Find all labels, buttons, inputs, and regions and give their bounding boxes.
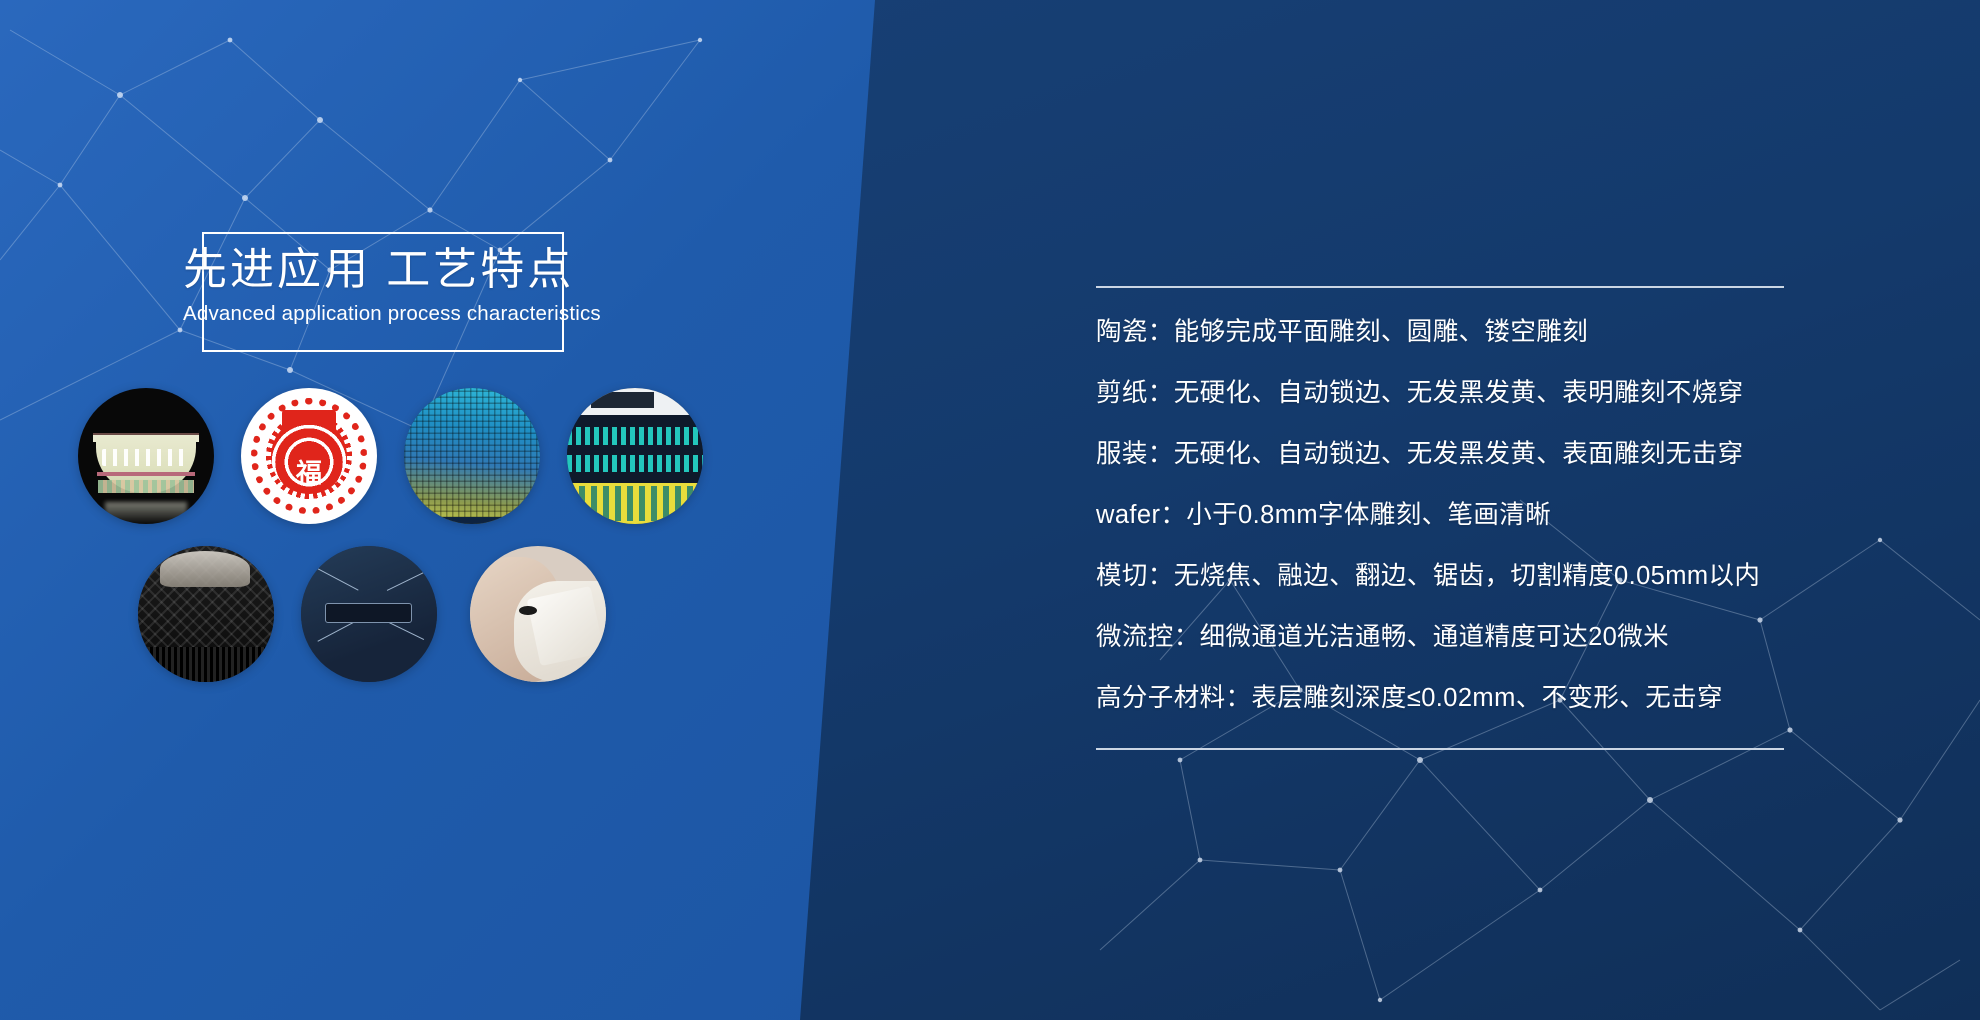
wafer-band-teal-2 xyxy=(567,455,703,473)
feature-line-microfluidic: 微流控：细微通道光洁通畅、通道精度可达20微米 xyxy=(1096,607,1966,668)
feature-list-top-divider xyxy=(1096,286,1784,288)
feature-line-ceramic: 陶瓷：能够完成平面雕刻、圆雕、镂空雕刻 xyxy=(1096,302,1966,363)
feature-list: 陶瓷：能够完成平面雕刻、圆雕、镂空雕刻 剪纸：无硬化、自动锁边、无发黑发黄、表明… xyxy=(1096,302,1966,729)
wafer-pattern-photo[interactable] xyxy=(567,388,703,524)
wafer-band-teal-1 xyxy=(567,427,703,445)
feature-line-wafer: wafer：小于0.8mm字体雕刻、笔画清晰 xyxy=(1096,485,1966,546)
page-title: 先进应用 工艺特点 xyxy=(183,243,603,297)
polymer-film-photo[interactable] xyxy=(470,546,606,682)
page-subtitle: Advanced application process characteris… xyxy=(183,299,603,329)
title-block: 先进应用 工艺特点 Advanced application process c… xyxy=(183,243,603,329)
wafer-band-gap-3 xyxy=(567,472,703,483)
wafer-band-gap-1 xyxy=(567,415,703,427)
feature-list-bottom-divider xyxy=(1096,748,1784,750)
fabric-fringe xyxy=(138,647,274,682)
textile-fabric-photo[interactable] xyxy=(138,546,274,682)
ceramic-bowl-photo[interactable] xyxy=(78,388,214,524)
microfluidic-chip-photo[interactable] xyxy=(301,546,437,682)
bowl-pattern-band xyxy=(98,480,193,492)
feature-line-diecut: 模切：无烧焦、融边、翻边、锯齿，切割精度0.05mm以内 xyxy=(1096,546,1966,607)
slide-canvas: 先进应用 工艺特点 Advanced application process c… xyxy=(0,0,1980,1020)
bowl-engraving xyxy=(102,449,189,465)
fabric-highlight xyxy=(160,551,250,586)
film-marking xyxy=(519,606,537,616)
wafer-band-yellow-dots xyxy=(567,486,703,521)
wafer-grid-surface xyxy=(404,388,540,524)
feature-line-papercut: 剪纸：无硬化、自动锁边、无发黑发黄、表明雕刻不烧穿 xyxy=(1096,363,1966,424)
sample-photo-gallery: 福 xyxy=(78,388,738,688)
silicon-wafer-photo[interactable] xyxy=(404,388,540,524)
polymer-film-sheet xyxy=(526,586,604,666)
bowl-band xyxy=(97,472,195,476)
feature-line-apparel: 服装：无硬化、自动锁边、无发黑发黄、表面雕刻无击穿 xyxy=(1096,424,1966,485)
paper-cut-fu-photo[interactable]: 福 xyxy=(241,388,377,524)
feature-line-polymer: 高分子材料：表层雕刻深度≤0.02mm、不变形、无击穿 xyxy=(1096,668,1966,729)
wafer-band-gap-2 xyxy=(567,445,703,455)
chip-body xyxy=(325,603,411,623)
wafer-flat-edge xyxy=(442,517,502,524)
fu-character: 福 xyxy=(241,461,377,487)
bowl-reflection xyxy=(105,502,187,524)
wafer-band-dark-block xyxy=(591,392,654,408)
